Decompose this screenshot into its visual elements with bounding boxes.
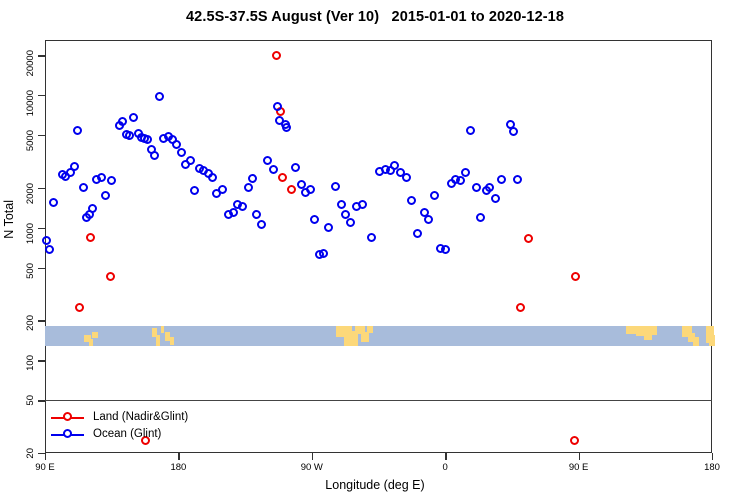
y-axis-tick-label: 5000: [0, 130, 36, 140]
data-point: [263, 156, 272, 165]
data-point: [358, 200, 367, 209]
y-axis-tick-label: 20: [0, 448, 36, 458]
x-axis-title: Longitude (deg E): [0, 478, 750, 492]
data-point: [49, 198, 58, 207]
data-point: [70, 162, 79, 171]
data-point: [571, 272, 580, 281]
data-point: [238, 202, 247, 211]
y-axis-tick: [38, 55, 45, 56]
x-axis-tick: [445, 453, 446, 460]
y-axis-tick: [38, 360, 45, 361]
x-axis-tick-label: 90 W: [301, 462, 323, 473]
data-point: [282, 123, 291, 132]
data-point: [269, 165, 278, 174]
data-point: [324, 223, 333, 232]
data-point: [190, 186, 199, 195]
data-point: [73, 126, 82, 135]
y-axis-tick: [38, 400, 45, 401]
data-point: [413, 229, 422, 238]
y-axis-tick: [38, 95, 45, 96]
y-axis-tick-label: 1000: [0, 223, 36, 233]
data-point: [248, 174, 257, 183]
data-point: [472, 183, 481, 192]
landmass-shape: [156, 335, 160, 346]
data-point: [278, 173, 287, 182]
landmass-shape: [161, 326, 164, 333]
data-point: [125, 131, 134, 140]
landmass-shape: [89, 339, 93, 346]
data-point: [208, 173, 217, 182]
landmass-shape: [709, 335, 715, 346]
chart-title: 42.5S-37.5S August (Ver 10) 2015-01-01 t…: [0, 9, 750, 25]
data-point: [118, 117, 127, 126]
data-point: [331, 182, 340, 191]
chart-canvas: 42.5S-37.5S August (Ver 10) 2015-01-01 t…: [0, 0, 750, 500]
data-point: [513, 175, 522, 184]
data-point: [337, 200, 346, 209]
data-point: [310, 215, 319, 224]
data-point: [177, 148, 186, 157]
y-axis-tick: [38, 320, 45, 321]
x-axis-tick-label: 90 E: [569, 462, 589, 473]
y-axis-tick-label: 100: [0, 355, 36, 365]
y-axis-tick-label: 2000: [0, 183, 36, 193]
longitude-map-strip: [45, 326, 712, 346]
data-point: [244, 183, 253, 192]
data-point: [129, 113, 138, 122]
data-point: [319, 249, 328, 258]
y-axis-title: N Total: [2, 200, 16, 239]
data-point: [509, 127, 518, 136]
x-axis-tick: [579, 453, 580, 460]
data-point: [306, 185, 315, 194]
y-axis-tick: [38, 188, 45, 189]
y-axis-tick-label: 50: [0, 395, 36, 405]
data-point: [407, 196, 416, 205]
landmass-shape: [367, 326, 373, 333]
data-point: [497, 175, 506, 184]
data-point: [97, 173, 106, 182]
data-point: [291, 163, 300, 172]
chart-legend: Land (Nadir&Glint)Ocean (Glint): [45, 409, 405, 451]
legend-label: Ocean (Glint): [93, 426, 161, 443]
y-axis-tick: [38, 268, 45, 269]
x-axis-tick-label: 0: [443, 462, 448, 473]
data-point: [257, 220, 266, 229]
legend-marker: [63, 412, 72, 421]
data-point: [424, 215, 433, 224]
landmass-shape: [693, 337, 699, 346]
data-point: [466, 126, 475, 135]
legend-label: Land (Nadir&Glint): [93, 409, 188, 426]
x-axis-tick: [712, 453, 713, 460]
reference-line: [45, 400, 712, 401]
data-point: [45, 245, 54, 254]
data-point: [42, 236, 51, 245]
data-point: [252, 210, 261, 219]
y-axis-tick: [38, 453, 45, 454]
x-axis-tick: [312, 453, 313, 460]
y-axis-tick: [38, 135, 45, 136]
y-axis-tick: [38, 228, 45, 229]
landmass-shape: [92, 332, 98, 338]
data-point: [186, 156, 195, 165]
x-axis-tick: [178, 453, 179, 460]
data-point: [150, 151, 159, 160]
legend-marker: [63, 429, 72, 438]
data-point: [155, 92, 164, 101]
data-point: [346, 218, 355, 227]
data-point: [430, 191, 439, 200]
data-point: [107, 176, 116, 185]
data-point: [491, 194, 500, 203]
data-point: [75, 303, 84, 312]
data-point: [456, 176, 465, 185]
data-point: [143, 135, 152, 144]
data-point: [79, 183, 88, 192]
data-point: [461, 168, 470, 177]
data-point: [476, 213, 485, 222]
landmass-shape: [170, 337, 174, 345]
plot-area: [45, 40, 712, 453]
y-axis-tick-label: 500: [0, 263, 36, 273]
data-point: [287, 185, 296, 194]
data-point: [86, 233, 95, 242]
x-axis-tick-label: 180: [704, 462, 720, 473]
data-point: [441, 245, 450, 254]
data-point: [101, 191, 110, 200]
data-point: [402, 173, 411, 182]
data-point: [570, 436, 579, 445]
data-point: [272, 51, 281, 60]
landmass-shape: [361, 332, 369, 342]
y-axis-tick-label: 20000: [0, 50, 36, 60]
data-point: [218, 185, 227, 194]
data-point: [367, 233, 376, 242]
x-axis-tick-label: 90 E: [35, 462, 55, 473]
x-axis-tick: [45, 453, 46, 460]
x-axis-tick-label: 180: [170, 462, 186, 473]
data-point: [524, 234, 533, 243]
data-point: [229, 208, 238, 217]
data-point: [106, 272, 115, 281]
y-axis-tick-label: 200: [0, 315, 36, 325]
data-point: [88, 204, 97, 213]
data-point: [485, 183, 494, 192]
data-point: [516, 303, 525, 312]
landmass-shape: [648, 326, 657, 335]
y-axis-tick-label: 10000: [0, 90, 36, 100]
